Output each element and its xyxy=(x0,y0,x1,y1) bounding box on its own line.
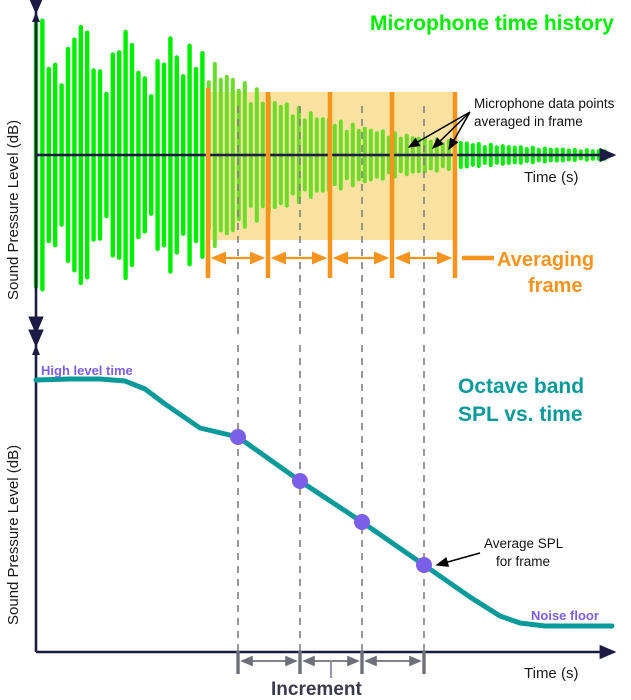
average-spl-callout: Average SPL for frame xyxy=(437,536,564,569)
increment-label: Increment xyxy=(271,679,362,700)
bottom-y-axis-arrow-up xyxy=(32,345,40,355)
average-spl-marker-2[interactable] xyxy=(292,473,308,489)
bottom-panel-title-line1: Octave band xyxy=(458,375,584,398)
noise-floor-label: Noise floor xyxy=(531,608,599,623)
average-spl-callout-arrow xyxy=(437,553,480,565)
averaging-frame-legend: Averaging frame xyxy=(462,249,594,297)
top-x-axis-label: Time (s) xyxy=(524,169,578,186)
diagram-svg: Sound Pressure Level (dB) Time (s) Micro… xyxy=(0,0,631,700)
high-level-time-label: High level time xyxy=(41,363,133,378)
top-y-axis-arrow-up xyxy=(32,12,40,22)
increment-measure-row xyxy=(238,651,424,678)
bottom-panel: Sound Pressure Level (dB) Time (s) Octav… xyxy=(5,345,614,700)
average-spl-callout-line2: for frame xyxy=(496,554,550,569)
average-spl-marker-4[interactable] xyxy=(416,557,432,573)
average-spl-marker-1[interactable] xyxy=(230,429,246,445)
average-spl-marker-3[interactable] xyxy=(354,514,370,530)
top-y-axis-label: Sound Pressure Level (dB) xyxy=(5,120,22,300)
mic-callout-line1: Microphone data points xyxy=(474,96,615,111)
average-spl-callout-line1: Average SPL xyxy=(484,536,564,551)
averaging-frame-legend-line2: frame xyxy=(528,275,582,297)
averaging-frame-arrow-row xyxy=(208,240,455,278)
bottom-y-axis-label: Sound Pressure Level (dB) xyxy=(5,445,22,625)
bottom-x-axis-label: Time (s) xyxy=(524,665,578,682)
bottom-panel-title-line2: SPL vs. time xyxy=(458,403,583,426)
top-panel-title: Microphone time history xyxy=(370,12,614,35)
figure-canvas: Sound Pressure Level (dB) Time (s) Micro… xyxy=(0,0,631,700)
top-y-axis-arrow-down xyxy=(32,322,40,332)
mic-callout-line2: averaged in frame xyxy=(474,114,583,129)
averaging-frame-legend-line1: Averaging xyxy=(497,249,594,271)
